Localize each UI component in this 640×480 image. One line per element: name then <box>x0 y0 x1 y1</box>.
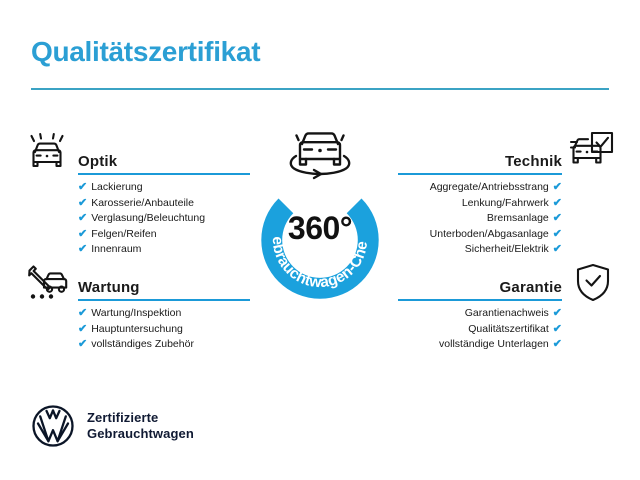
check-icon: ✔ <box>553 212 562 224</box>
car-shine-icon <box>24 132 70 177</box>
list-item: ✔Innenraum <box>78 242 205 258</box>
section-title: Wartung <box>78 279 140 296</box>
check-icon: ✔ <box>78 212 87 224</box>
list-item: Lenkung/Fahrwerk✔ <box>430 196 562 212</box>
car-rotate-icon <box>278 122 362 184</box>
list-item-label: Aggregate/Antriebsstrang <box>430 181 549 193</box>
footer-line-2: Gebrauchtwagen <box>87 426 194 442</box>
section-header: Optik <box>78 146 250 172</box>
list-item-label: Wartung/Inspektion <box>91 307 181 319</box>
page-title: Qualitätszertifikat <box>31 36 260 68</box>
section-header: Garantie <box>398 272 562 298</box>
shield-check-icon <box>573 262 613 309</box>
check-icon: ✔ <box>78 228 87 240</box>
list-item: vollständige Unterlagen✔ <box>439 337 562 353</box>
list-item-label: vollständige Unterlagen <box>439 338 549 350</box>
section-divider <box>78 173 250 175</box>
car-checkbox-icon <box>568 130 616 177</box>
section-divider <box>398 299 562 301</box>
list-item-label: Qualitätszertifikat <box>468 323 549 335</box>
list-item: ✔Hauptuntersuchung <box>78 322 194 338</box>
list-item: Unterboden/Abgasanlage✔ <box>430 227 562 243</box>
check-icon: ✔ <box>78 197 87 209</box>
list-item-label: Felgen/Reifen <box>91 228 156 240</box>
list-item: Bremsanlage✔ <box>430 211 562 227</box>
check-icon: ✔ <box>78 323 87 335</box>
list-item-label: Lackierung <box>91 181 142 193</box>
section-garantie: Garantie Garantienachweis✔ Qualitätszert… <box>398 272 562 298</box>
list-item: ✔Verglasung/Beleuchtung <box>78 211 205 227</box>
section-title: Garantie <box>500 279 562 296</box>
section-divider <box>78 299 250 301</box>
check-icon: ✔ <box>553 181 562 193</box>
list-item-label: Lenkung/Fahrwerk <box>462 197 549 209</box>
footer-line-1: Zertifizierte <box>87 410 194 426</box>
footer-text: Zertifizierte Gebrauchtwagen <box>87 410 194 442</box>
section-optik: Optik ✔Lackierung ✔Karosserie/Anbauteile… <box>78 146 250 172</box>
list-item-label: Hauptuntersuchung <box>91 323 183 335</box>
list-item-label: vollständiges Zubehör <box>91 338 194 350</box>
list-item: Aggregate/Antriebsstrang✔ <box>430 180 562 196</box>
check-icon: ✔ <box>553 228 562 240</box>
list-item-label: Verglasung/Beleuchtung <box>91 212 205 224</box>
list-item: ✔Lackierung <box>78 180 205 196</box>
list-item: ✔Felgen/Reifen <box>78 227 205 243</box>
check-icon: ✔ <box>553 243 562 255</box>
check-icon: ✔ <box>78 243 87 255</box>
wrench-car-icon <box>24 262 72 309</box>
list-item: ✔vollständiges Zubehör <box>78 337 194 353</box>
certificate-page: Qualitätszertifikat Optik ✔Lackierung ✔K… <box>0 0 640 480</box>
check-icon: ✔ <box>78 338 87 350</box>
footer-brand: Zertifizierte Gebrauchtwagen <box>31 404 194 448</box>
list-item: Sicherheit/Elektrik✔ <box>430 242 562 258</box>
section-header: Wartung <box>78 272 250 298</box>
check-icon: ✔ <box>553 338 562 350</box>
check-icon: ✔ <box>553 323 562 335</box>
section-wartung: Wartung ✔Wartung/Inspektion ✔Hauptunters… <box>78 272 250 298</box>
section-title: Technik <box>505 153 562 170</box>
list-item-label: Garantienachweis <box>465 307 549 319</box>
check-icon: ✔ <box>78 181 87 193</box>
list-item: ✔Wartung/Inspektion <box>78 306 194 322</box>
list-item-label: Unterboden/Abgasanlage <box>430 228 549 240</box>
check-icon: ✔ <box>553 197 562 209</box>
check-icon: ✔ <box>78 307 87 319</box>
list-item-label: Sicherheit/Elektrik <box>465 243 549 255</box>
check-icon: ✔ <box>553 307 562 319</box>
list-item: Garantienachweis✔ <box>439 306 562 322</box>
checklist-optik: ✔Lackierung ✔Karosserie/Anbauteile ✔Verg… <box>78 180 205 258</box>
list-item-label: Karosserie/Anbauteile <box>91 197 194 209</box>
title-divider <box>31 88 609 90</box>
list-item: ✔Karosserie/Anbauteile <box>78 196 205 212</box>
section-title: Optik <box>78 153 117 170</box>
vw-logo-icon <box>31 404 75 448</box>
list-item-label: Innenraum <box>91 243 141 255</box>
section-technik: Technik Aggregate/Antriebsstrang✔ Lenkun… <box>398 146 562 172</box>
badge-degrees: 360° <box>240 210 400 247</box>
checklist-garantie: Garantienachweis✔ Qualitätszertifikat✔ v… <box>439 306 562 353</box>
list-item: Qualitätszertifikat✔ <box>439 322 562 338</box>
checklist-technik: Aggregate/Antriebsstrang✔ Lenkung/Fahrwe… <box>430 180 562 258</box>
section-header: Technik <box>398 146 562 172</box>
section-divider <box>398 173 562 175</box>
list-item-label: Bremsanlage <box>487 212 549 224</box>
checklist-wartung: ✔Wartung/Inspektion ✔Hauptuntersuchung ✔… <box>78 306 194 353</box>
